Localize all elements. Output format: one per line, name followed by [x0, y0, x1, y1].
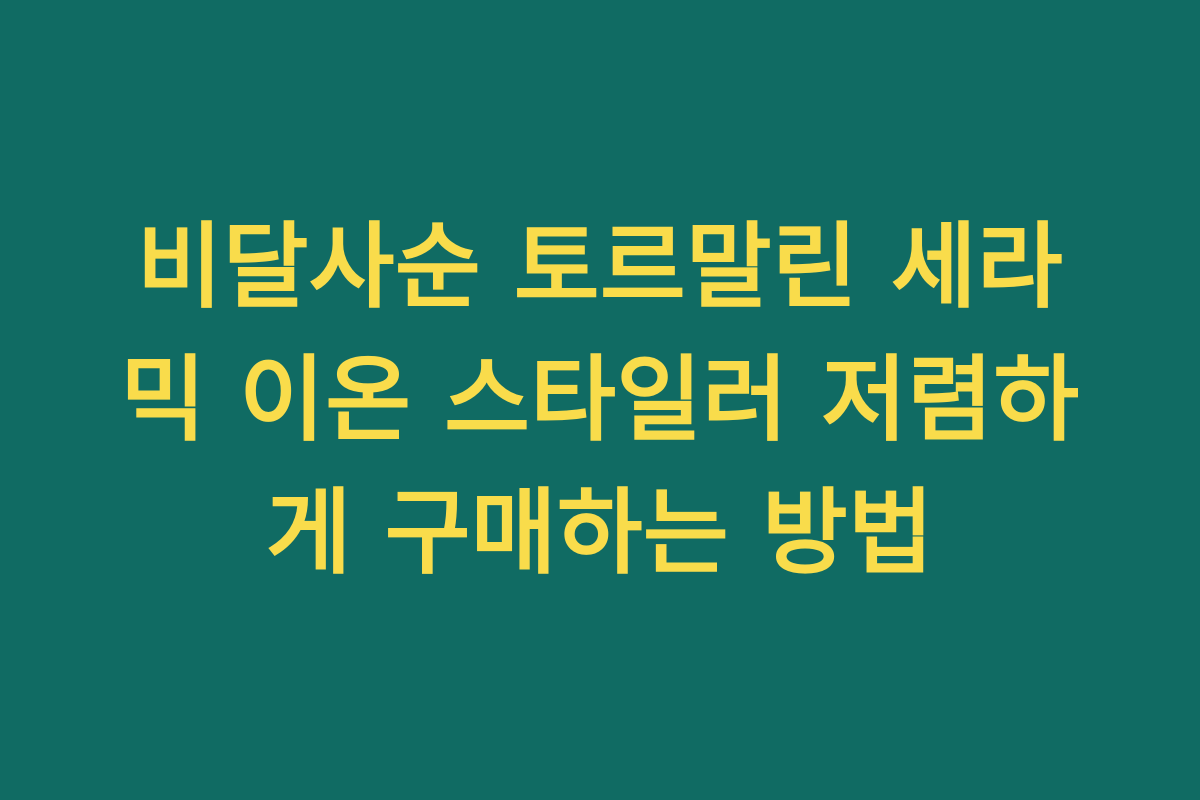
title-block: 비달사순 토르말린 세라 믹 이온 스타일러 저렴하 게 구매하는 방법 — [95, 201, 1105, 600]
title-line-2: 믹 이온 스타일러 저렴하 — [120, 334, 1079, 467]
title-line-3: 게 구매하는 방법 — [266, 467, 934, 600]
thumbnail-canvas: 비달사순 토르말린 세라 믹 이온 스타일러 저렴하 게 구매하는 방법 — [0, 0, 1200, 800]
title-line-1: 비달사순 토르말린 세라 — [137, 201, 1063, 334]
